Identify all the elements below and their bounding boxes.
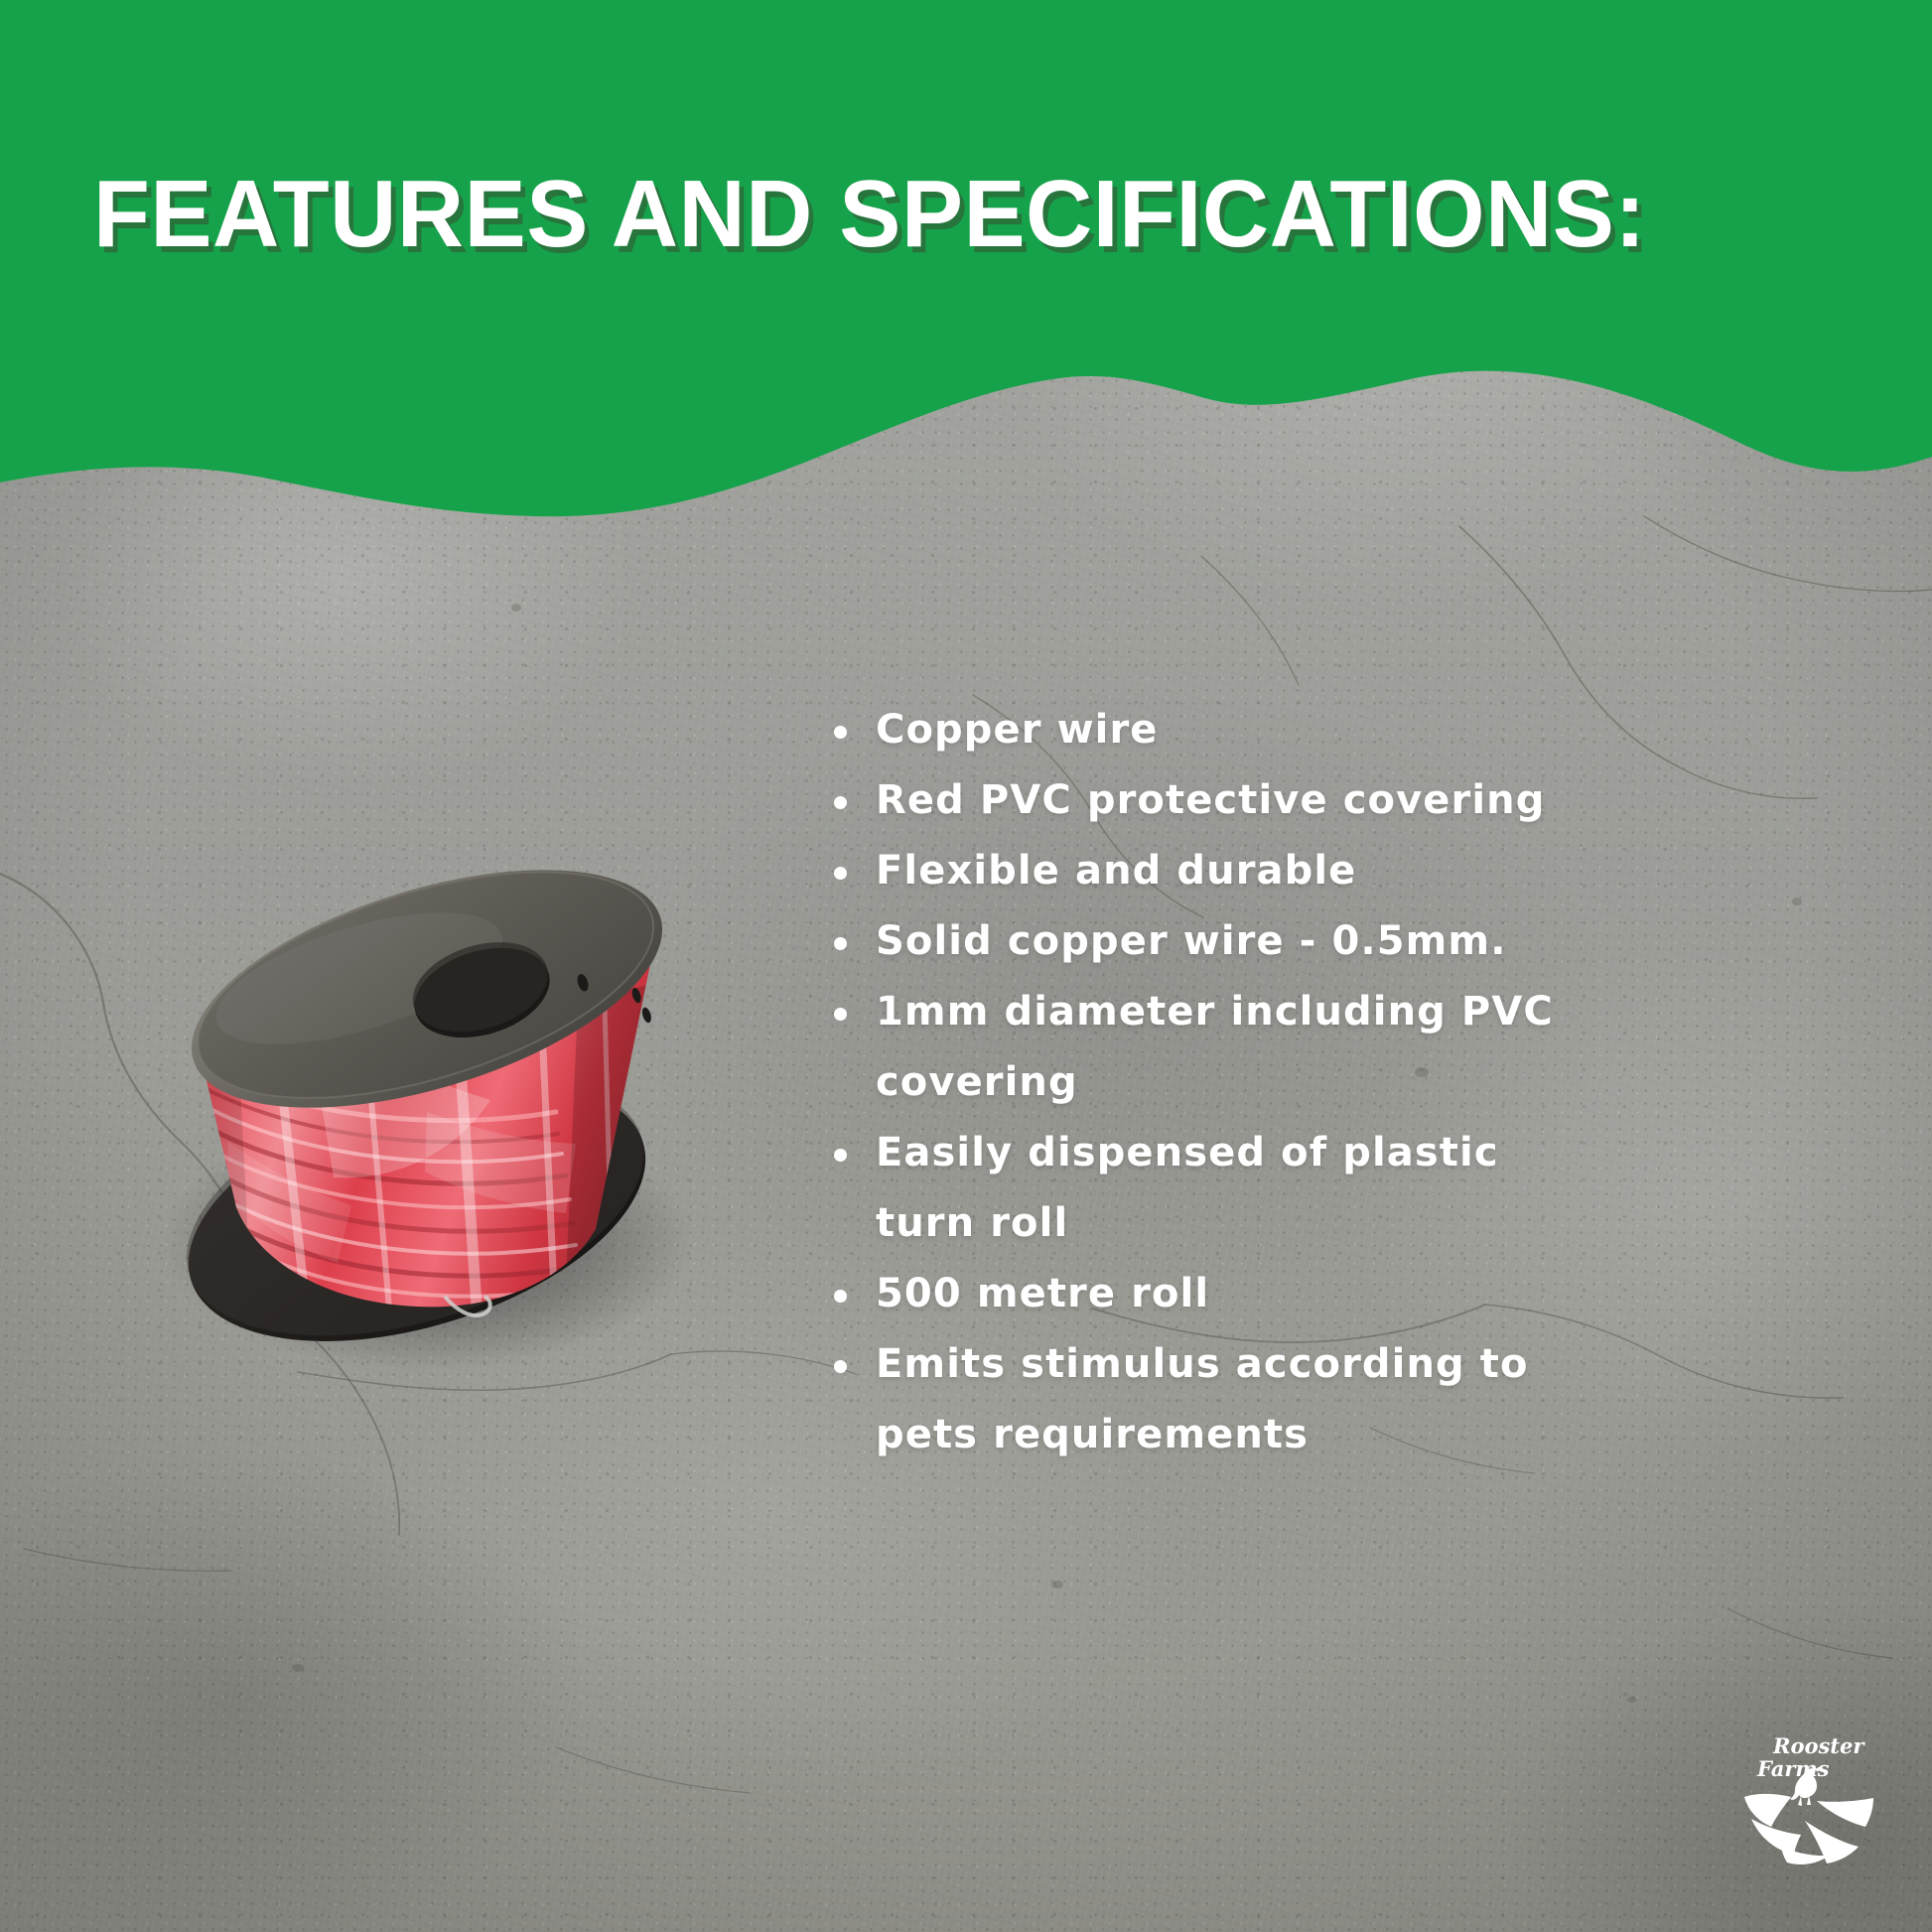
brand-logo: Rooster Farms [1735, 1729, 1882, 1868]
list-item-continuation: turn roll [830, 1188, 1733, 1259]
list-item: Solid copper wire - 0.5mm. [830, 906, 1733, 977]
list-item: Flexible and durable [830, 836, 1733, 906]
list-item-continuation: covering [830, 1047, 1733, 1118]
product-image-wire-spool [129, 814, 745, 1370]
list-item: 500 metre roll [830, 1259, 1733, 1329]
list-item: Copper wire [830, 695, 1733, 765]
list-item: Red PVC protective covering [830, 765, 1733, 836]
list-item: Easily dispensed of plastic [830, 1118, 1733, 1188]
logo-text-rooster: Rooster [1772, 1733, 1865, 1758]
green-wave-banner: FEATURES AND SPECIFICATIONS: [0, 0, 1932, 536]
list-item: 1mm diameter including PVC [830, 977, 1733, 1047]
product-feature-card: FEATURES AND SPECIFICATIONS: [0, 0, 1932, 1932]
page-title: FEATURES AND SPECIFICATIONS: [93, 167, 1646, 262]
spool-vent-hole [640, 1007, 652, 1025]
list-item: Emits stimulus according to [830, 1329, 1733, 1400]
features-list: Copper wire Red PVC protective covering … [830, 695, 1733, 1470]
list-item-continuation: pets requirements [830, 1400, 1733, 1470]
